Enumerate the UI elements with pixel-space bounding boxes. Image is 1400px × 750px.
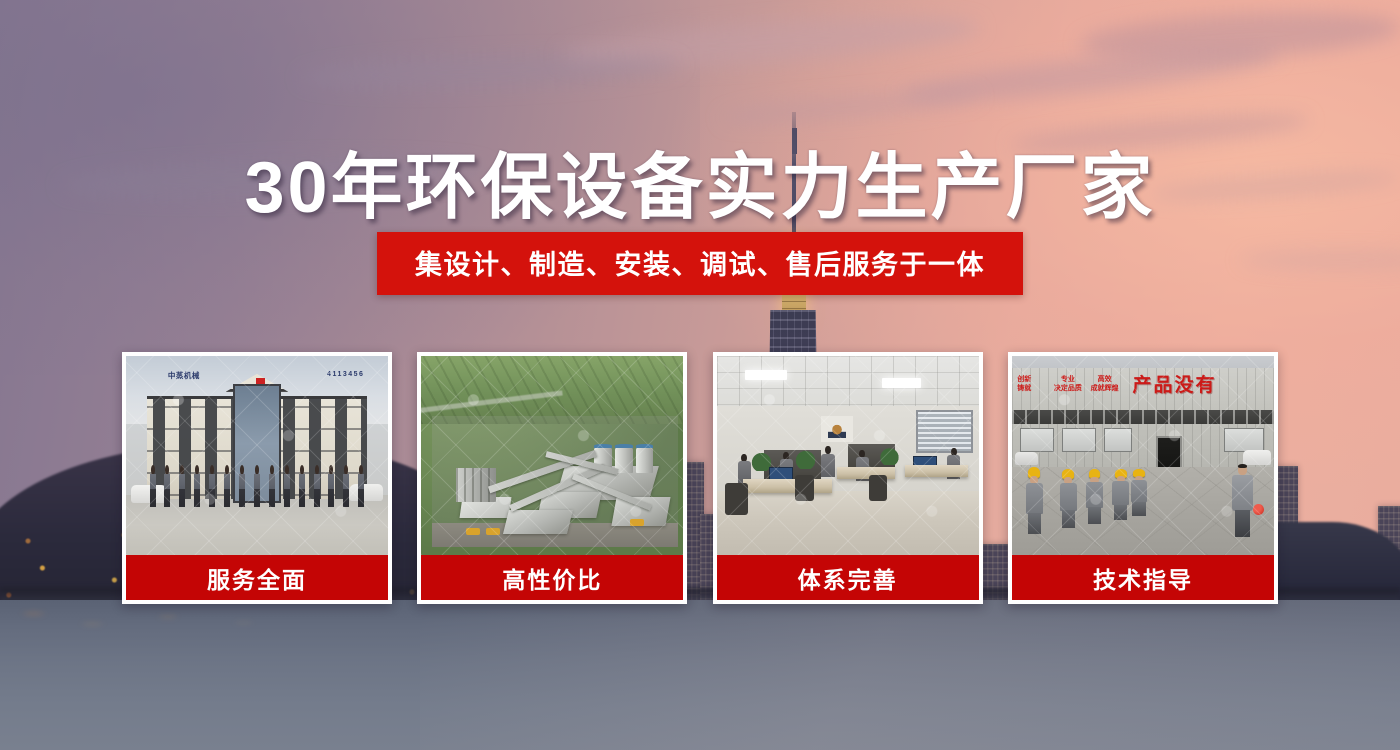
flag-icon: [256, 378, 265, 384]
office-chair: [795, 475, 813, 501]
staff-member: [254, 465, 260, 507]
office-window-blinds: [916, 410, 974, 454]
water-sheen: [420, 600, 1400, 750]
feature-card[interactable]: 高性价比: [417, 352, 687, 604]
ceiling-light: [882, 378, 921, 388]
worker-legs: [1062, 510, 1075, 528]
office-desk: [743, 479, 832, 493]
wall-vent-strip: [1012, 410, 1274, 424]
card-label: 服务全面: [126, 555, 388, 600]
staff-member: [164, 465, 170, 507]
workers-training-photo: 产品没有 创新铸就 专业决定品质 高效成就辉煌: [1012, 356, 1274, 555]
factory-window: [1062, 428, 1096, 452]
water-reflections: [0, 598, 420, 650]
office-interior-photo: [717, 356, 979, 555]
storage-silo: [636, 447, 653, 473]
staff-member: [179, 465, 185, 507]
office-chair: [869, 475, 887, 501]
plant-complex: [432, 416, 678, 547]
worker-with-hardhat: [1025, 467, 1043, 535]
hq-scene: 中蒸机械 4113456: [126, 356, 388, 555]
parked-car: [1015, 452, 1039, 466]
wall-slogan: 高效成就辉煌: [1091, 376, 1119, 394]
staff-member: [150, 465, 156, 507]
worker-legs: [1114, 505, 1127, 521]
worker-with-hardhat: [1059, 469, 1077, 529]
staff-lineup: [150, 465, 365, 507]
factory-sign-text: 产品没有: [1133, 370, 1217, 397]
excavator: [630, 519, 644, 526]
wall-poster: [821, 416, 852, 442]
feature-card[interactable]: 体系完善: [713, 352, 983, 604]
worker-body: [1060, 483, 1077, 510]
parked-car: [1243, 450, 1272, 466]
hq-sign-text: 中蒸机械: [168, 370, 200, 381]
office-ceiling: [717, 356, 979, 408]
plant-building: [503, 510, 573, 534]
office-worker: [821, 446, 834, 478]
factory-window: [1224, 428, 1263, 452]
staff-member: [239, 465, 245, 507]
worker-with-hardhat: [1085, 469, 1103, 525]
plant-scene: [421, 356, 683, 555]
feature-card-row: 中蒸机械 4113456: [122, 352, 1278, 604]
staff-member: [343, 465, 349, 507]
office-desk: [905, 465, 968, 477]
card-label: 体系完善: [717, 555, 979, 600]
wall-slogan: 创新铸就: [1017, 376, 1031, 394]
staff-member: [299, 465, 305, 507]
instructor-legs: [1235, 510, 1249, 537]
staff-member: [284, 465, 290, 507]
instructor-head: [1238, 465, 1246, 475]
office-chair: [725, 483, 749, 515]
promotional-banner: 30年环保设备实力生产厂家 集设计、制造、安装、调试、售后服务于一体 中蒸机械 …: [0, 0, 1400, 750]
feature-card[interactable]: 产品没有 创新铸就 专业决定品质 高效成就辉煌: [1008, 352, 1278, 604]
staff-member: [209, 465, 215, 507]
worker-body: [1086, 482, 1103, 508]
staff-member: [269, 465, 275, 507]
worker-with-hardhat: [1112, 469, 1130, 521]
subtitle-container: 集设计、制造、安装、调试、售后服务于一体: [0, 232, 1400, 295]
office-floor: [717, 491, 979, 555]
staff-member: [314, 465, 320, 507]
feature-card[interactable]: 中蒸机械 4113456: [122, 352, 392, 604]
worker-with-hardhat: [1130, 469, 1148, 517]
office-scene: [717, 356, 979, 555]
company-headquarters-photo: 中蒸机械 4113456: [126, 356, 388, 555]
staff-member: [224, 465, 230, 507]
red-helmet-icon: [1253, 504, 1264, 515]
wall-slogan: 专业决定品质: [1054, 376, 1082, 394]
worker-body: [1131, 480, 1148, 502]
ceiling-light: [745, 370, 787, 380]
staff-member: [194, 465, 200, 507]
industrial-plant-aerial-photo: [421, 356, 683, 555]
factory-window: [1020, 428, 1054, 452]
excavator: [466, 528, 480, 535]
instructor: [1232, 465, 1253, 537]
card-label: 高性价比: [421, 555, 683, 600]
green-fields: [421, 356, 683, 424]
worker-legs: [1132, 502, 1145, 516]
worker-legs: [1028, 513, 1041, 533]
page-title: 30年环保设备实力生产厂家: [0, 128, 1400, 233]
potted-plant: [879, 446, 900, 466]
card-label: 技术指导: [1012, 555, 1274, 600]
instructor-body: [1232, 475, 1252, 511]
staff-member: [358, 465, 364, 507]
worker-body: [1026, 483, 1043, 514]
hq-phone-text: 4113456: [327, 371, 364, 378]
factory-yard-scene: 产品没有 创新铸就 专业决定品质 高效成就辉煌: [1012, 356, 1274, 555]
subtitle-banner: 集设计、制造、安装、调试、售后服务于一体: [377, 232, 1023, 295]
worker-body: [1112, 481, 1129, 505]
staff-member: [328, 465, 334, 507]
potted-plant: [795, 448, 816, 470]
worker-legs: [1088, 507, 1101, 524]
excavator: [486, 528, 500, 535]
factory-window: [1104, 428, 1133, 452]
